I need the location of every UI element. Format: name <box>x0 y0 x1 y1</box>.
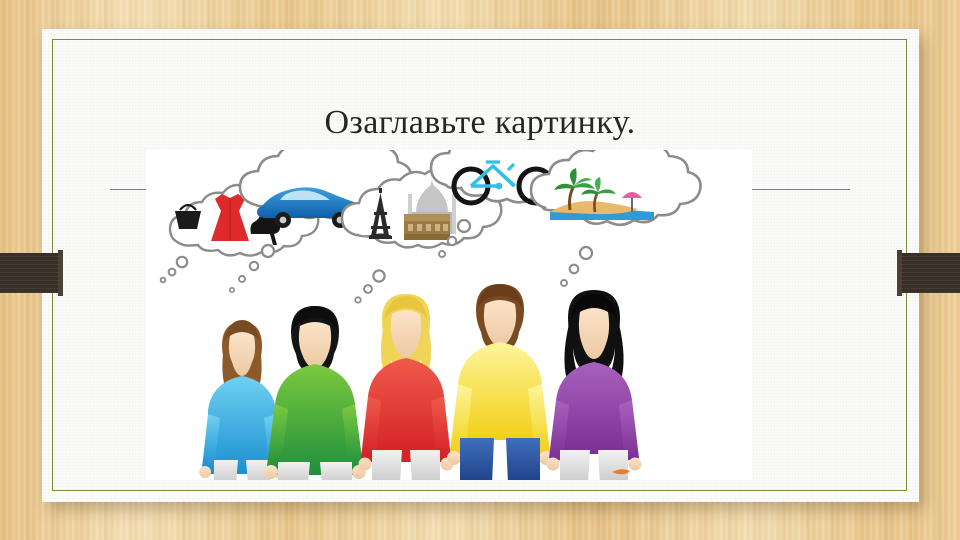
presentation-slide: Озаглавьте картинку. <box>0 0 960 540</box>
colosseum-icon <box>404 214 450 240</box>
decorative-bar-left <box>0 253 63 293</box>
title-rule-left <box>110 189 148 190</box>
decorative-bar-right-cap <box>897 250 902 296</box>
decorative-bar-left-cap <box>58 250 63 296</box>
people-with-thought-bubbles-illustration <box>146 150 752 480</box>
title-rule-right <box>752 189 850 190</box>
slide-picture <box>146 150 752 480</box>
slide-title: Озаглавьте картинку. <box>0 104 960 142</box>
decorative-bar-right <box>897 253 960 293</box>
